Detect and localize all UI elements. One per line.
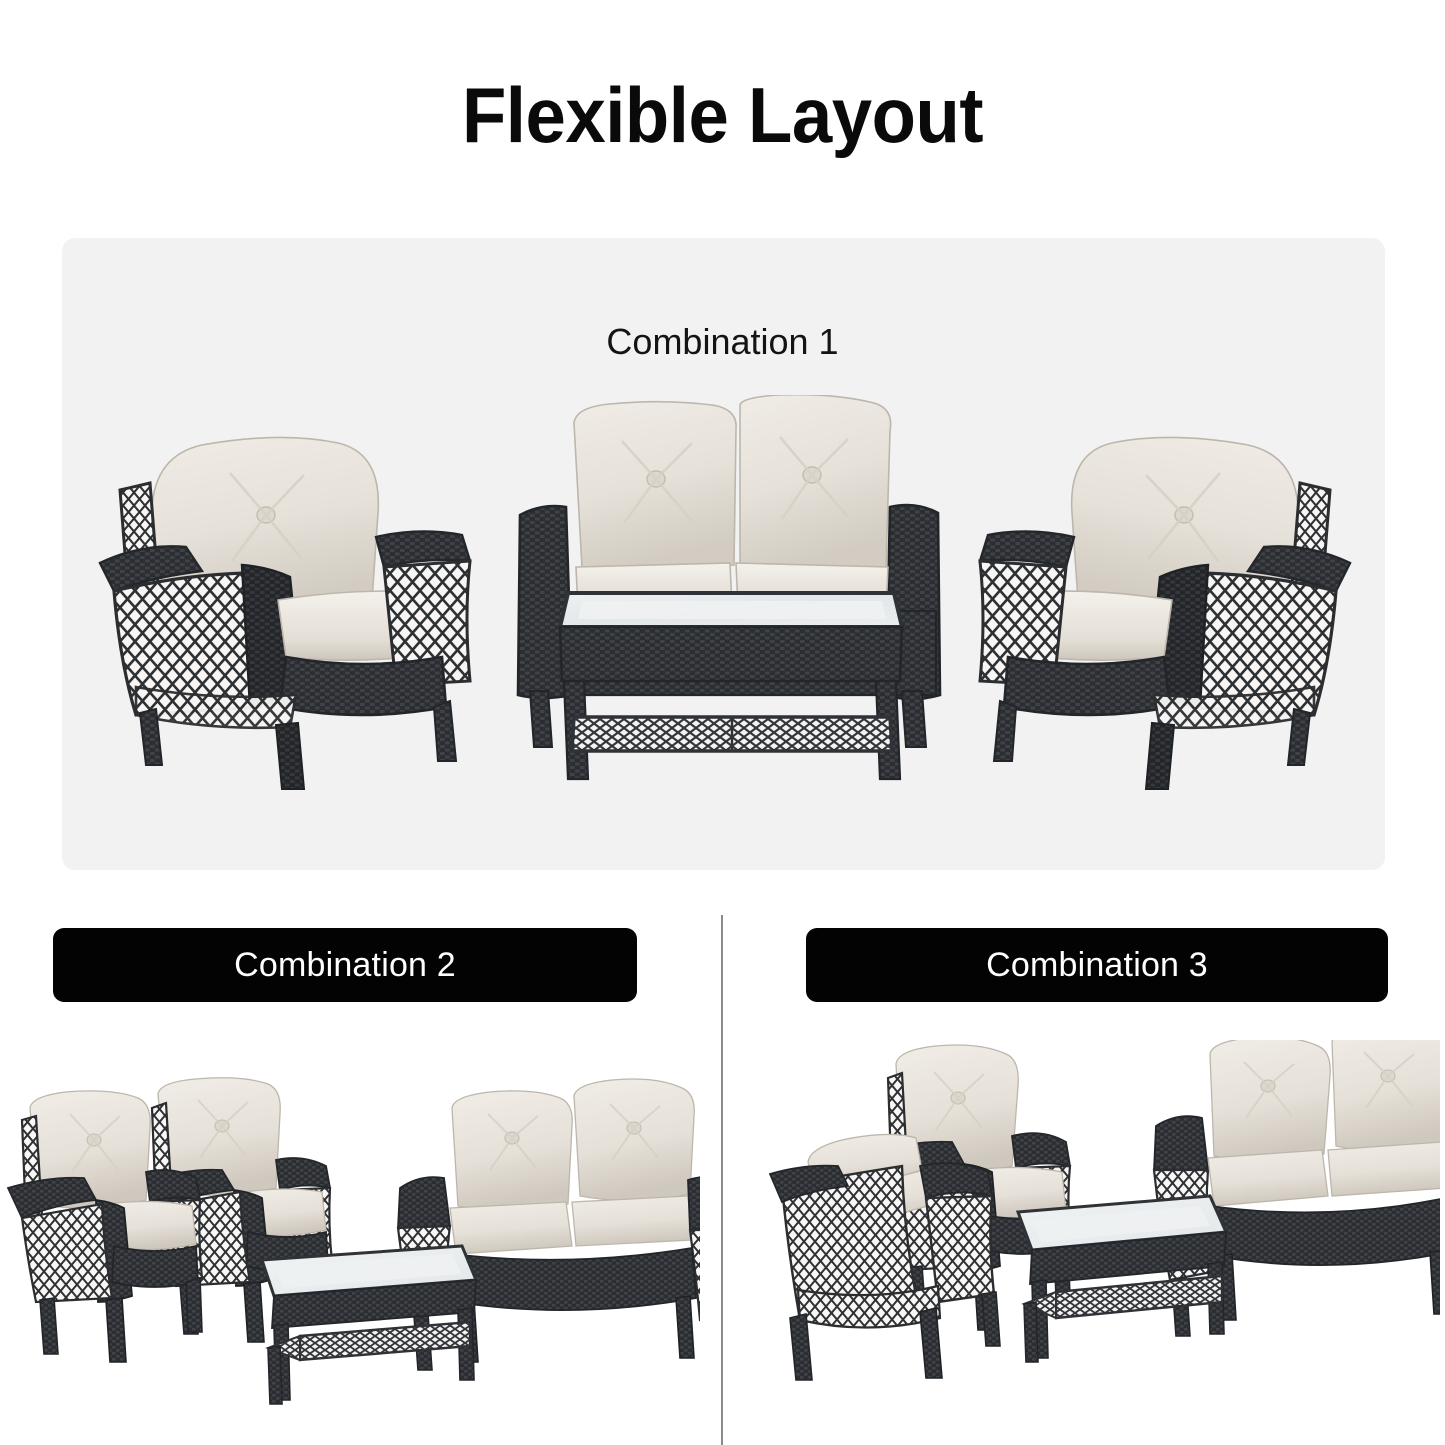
section-divider [721, 915, 723, 1445]
infographic-page: Flexible Layout Combination 1 [0, 0, 1445, 1445]
armchair-icon [100, 437, 470, 789]
combination-2-chip: Combination 2 [53, 928, 637, 1002]
coffee-table-icon [1018, 1196, 1226, 1362]
page-title: Flexible Layout [51, 74, 1395, 156]
armchair-icon [980, 437, 1350, 789]
combination-1-label: Combination 1 [0, 320, 1445, 364]
armchair-icon [770, 1134, 1000, 1380]
combination-3-scene [760, 1040, 1440, 1415]
combination-2-scene [0, 1070, 700, 1410]
combination-3-label: Combination 3 [986, 945, 1208, 985]
combination-3-chip: Combination 3 [806, 928, 1388, 1002]
combination-1-scene [90, 395, 1360, 825]
coffee-table-icon [262, 1246, 476, 1404]
combination-2-label: Combination 2 [234, 945, 456, 985]
